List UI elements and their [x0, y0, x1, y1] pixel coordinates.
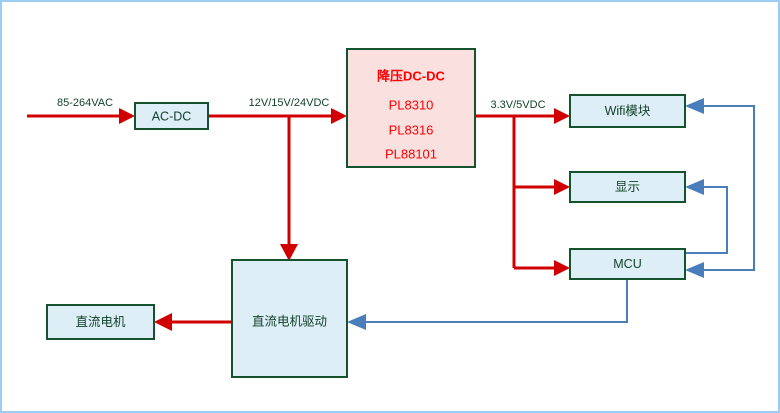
- arrowhead-signal-into-motor-driver: [347, 314, 366, 330]
- wire-mcu-to-display: [685, 187, 727, 253]
- wire-buck-to-logic-rail: [475, 116, 514, 268]
- block-wifi-module[interactable]: Wifi模块: [570, 95, 685, 127]
- wire-mcu-to-motor-driver: [364, 279, 627, 322]
- arrowhead-into-wifi-module: [554, 108, 570, 124]
- block-mcu-label: MCU: [613, 257, 641, 271]
- edge-label-dc-bus: 12V/15V/24VDC: [249, 97, 330, 109]
- block-wifi-module-label: Wifi模块: [605, 104, 651, 118]
- block-display-label: 显示: [615, 180, 640, 194]
- block-buck-dcdc-line-2: PL8310: [389, 97, 434, 112]
- arrowhead-into-buck-dcdc: [331, 108, 347, 124]
- arrowhead-into-display: [554, 179, 570, 195]
- block-motor-driver-label: 直流电机驱动: [252, 314, 327, 328]
- arrowhead-into-mcu: [554, 260, 570, 276]
- arrowhead-signal-into-display: [685, 179, 704, 195]
- block-dc-motor-label: 直流电机: [75, 315, 126, 329]
- block-dc-motor[interactable]: 直流电机: [47, 305, 154, 339]
- edge-label-ac-input: 85-264VAC: [57, 97, 113, 109]
- arrowhead-into-motor-driver: [280, 244, 298, 261]
- block-buck-dcdc-line-4: PL88101: [385, 146, 437, 161]
- block-buck-dcdc[interactable]: 降压DC-DC PL8310 PL8316 PL88101: [347, 49, 475, 167]
- arrowhead-into-dc-motor: [154, 313, 172, 331]
- diagram-canvas: AC-DC 降压DC-DC PL8310 PL8316 PL88101 Wifi…: [0, 0, 780, 413]
- block-buck-dcdc-line-3: PL8316: [389, 122, 434, 137]
- edge-label-logic-rail: 3.3V/5VDC: [490, 99, 545, 111]
- block-ac-dc-label: AC-DC: [152, 109, 192, 123]
- block-mcu[interactable]: MCU: [570, 249, 685, 279]
- block-buck-dcdc-line-1: 降压DC-DC: [377, 68, 445, 83]
- block-ac-dc[interactable]: AC-DC: [135, 103, 208, 129]
- arrowhead-signal-into-mcu: [685, 262, 704, 278]
- block-diagram: AC-DC 降压DC-DC PL8310 PL8316 PL88101 Wifi…: [2, 2, 780, 413]
- arrowhead-signal-into-wifi-module: [685, 98, 704, 114]
- block-display[interactable]: 显示: [570, 172, 685, 202]
- arrowhead-into-acdc: [119, 108, 135, 124]
- block-motor-driver[interactable]: 直流电机驱动: [232, 260, 347, 377]
